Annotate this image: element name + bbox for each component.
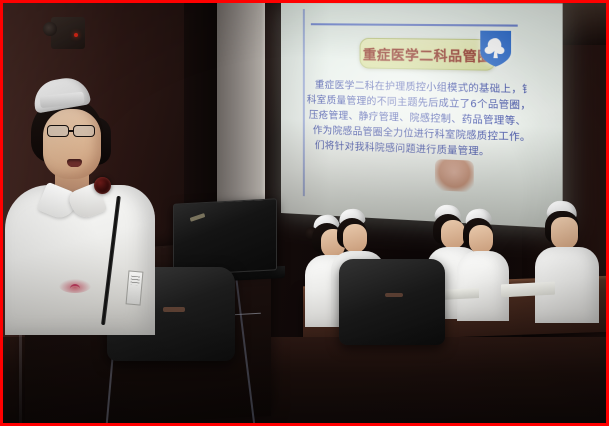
slide-body-text: 重症医学二科在护理质控小组模式的基础上，针对 科室质量管理的不同主题先后成立了6… bbox=[315, 78, 527, 162]
table-document-secondary bbox=[439, 288, 479, 300]
speaker-mouth bbox=[67, 159, 82, 167]
slide-title-box: 重症医学二科品管圈 bbox=[360, 38, 496, 71]
conference-room-scene: 重症医学二科品管圈 重症医学二科在护理质控小组模式的基础上，针对 科室质量管理的… bbox=[3, 3, 606, 423]
chair-label-tag bbox=[163, 307, 185, 312]
slide-thumbnail-image bbox=[435, 159, 474, 192]
projection-screen: 重症医学二科品管圈 重症医学二科在护理质控小组模式的基础上，针对 科室质量管理的… bbox=[281, 3, 563, 229]
microphone-icon bbox=[94, 177, 111, 194]
speaker-face bbox=[43, 109, 101, 179]
photo-frame: 重症医学二科品管圈 重症医学二科在护理质控小组模式的基础上，针对 科室质量管理的… bbox=[0, 0, 609, 426]
id-badge bbox=[126, 270, 144, 305]
uniform-embroidered-logo bbox=[59, 279, 91, 293]
eyeglass-lens-right bbox=[73, 125, 95, 137]
slide-frame-line-top bbox=[311, 23, 518, 26]
hospital-dove-shield-emblem bbox=[478, 28, 513, 69]
eyeglasses-icon bbox=[45, 125, 103, 138]
eyeglass-lens-left bbox=[47, 125, 69, 137]
nurse-face bbox=[551, 217, 578, 249]
camera-lens-icon bbox=[43, 22, 57, 36]
presentation-laptop bbox=[173, 198, 277, 275]
slide-title: 重症医学二科品管圈 bbox=[363, 43, 492, 65]
nurse-face bbox=[469, 225, 493, 254]
slide-content: 重症医学二科品管圈 重症医学二科在护理质控小组模式的基础上，针对 科室质量管理的… bbox=[281, 3, 563, 229]
camera-led-indicator bbox=[74, 33, 78, 37]
presenting-nurse bbox=[5, 75, 155, 325]
office-chair-back-row bbox=[339, 259, 445, 345]
camera-icon bbox=[51, 17, 85, 49]
laptop-brand-logo bbox=[190, 213, 206, 222]
nurse-face bbox=[343, 224, 367, 253]
slide-frame-line-left bbox=[303, 9, 305, 196]
chair-label-tag bbox=[385, 293, 403, 297]
